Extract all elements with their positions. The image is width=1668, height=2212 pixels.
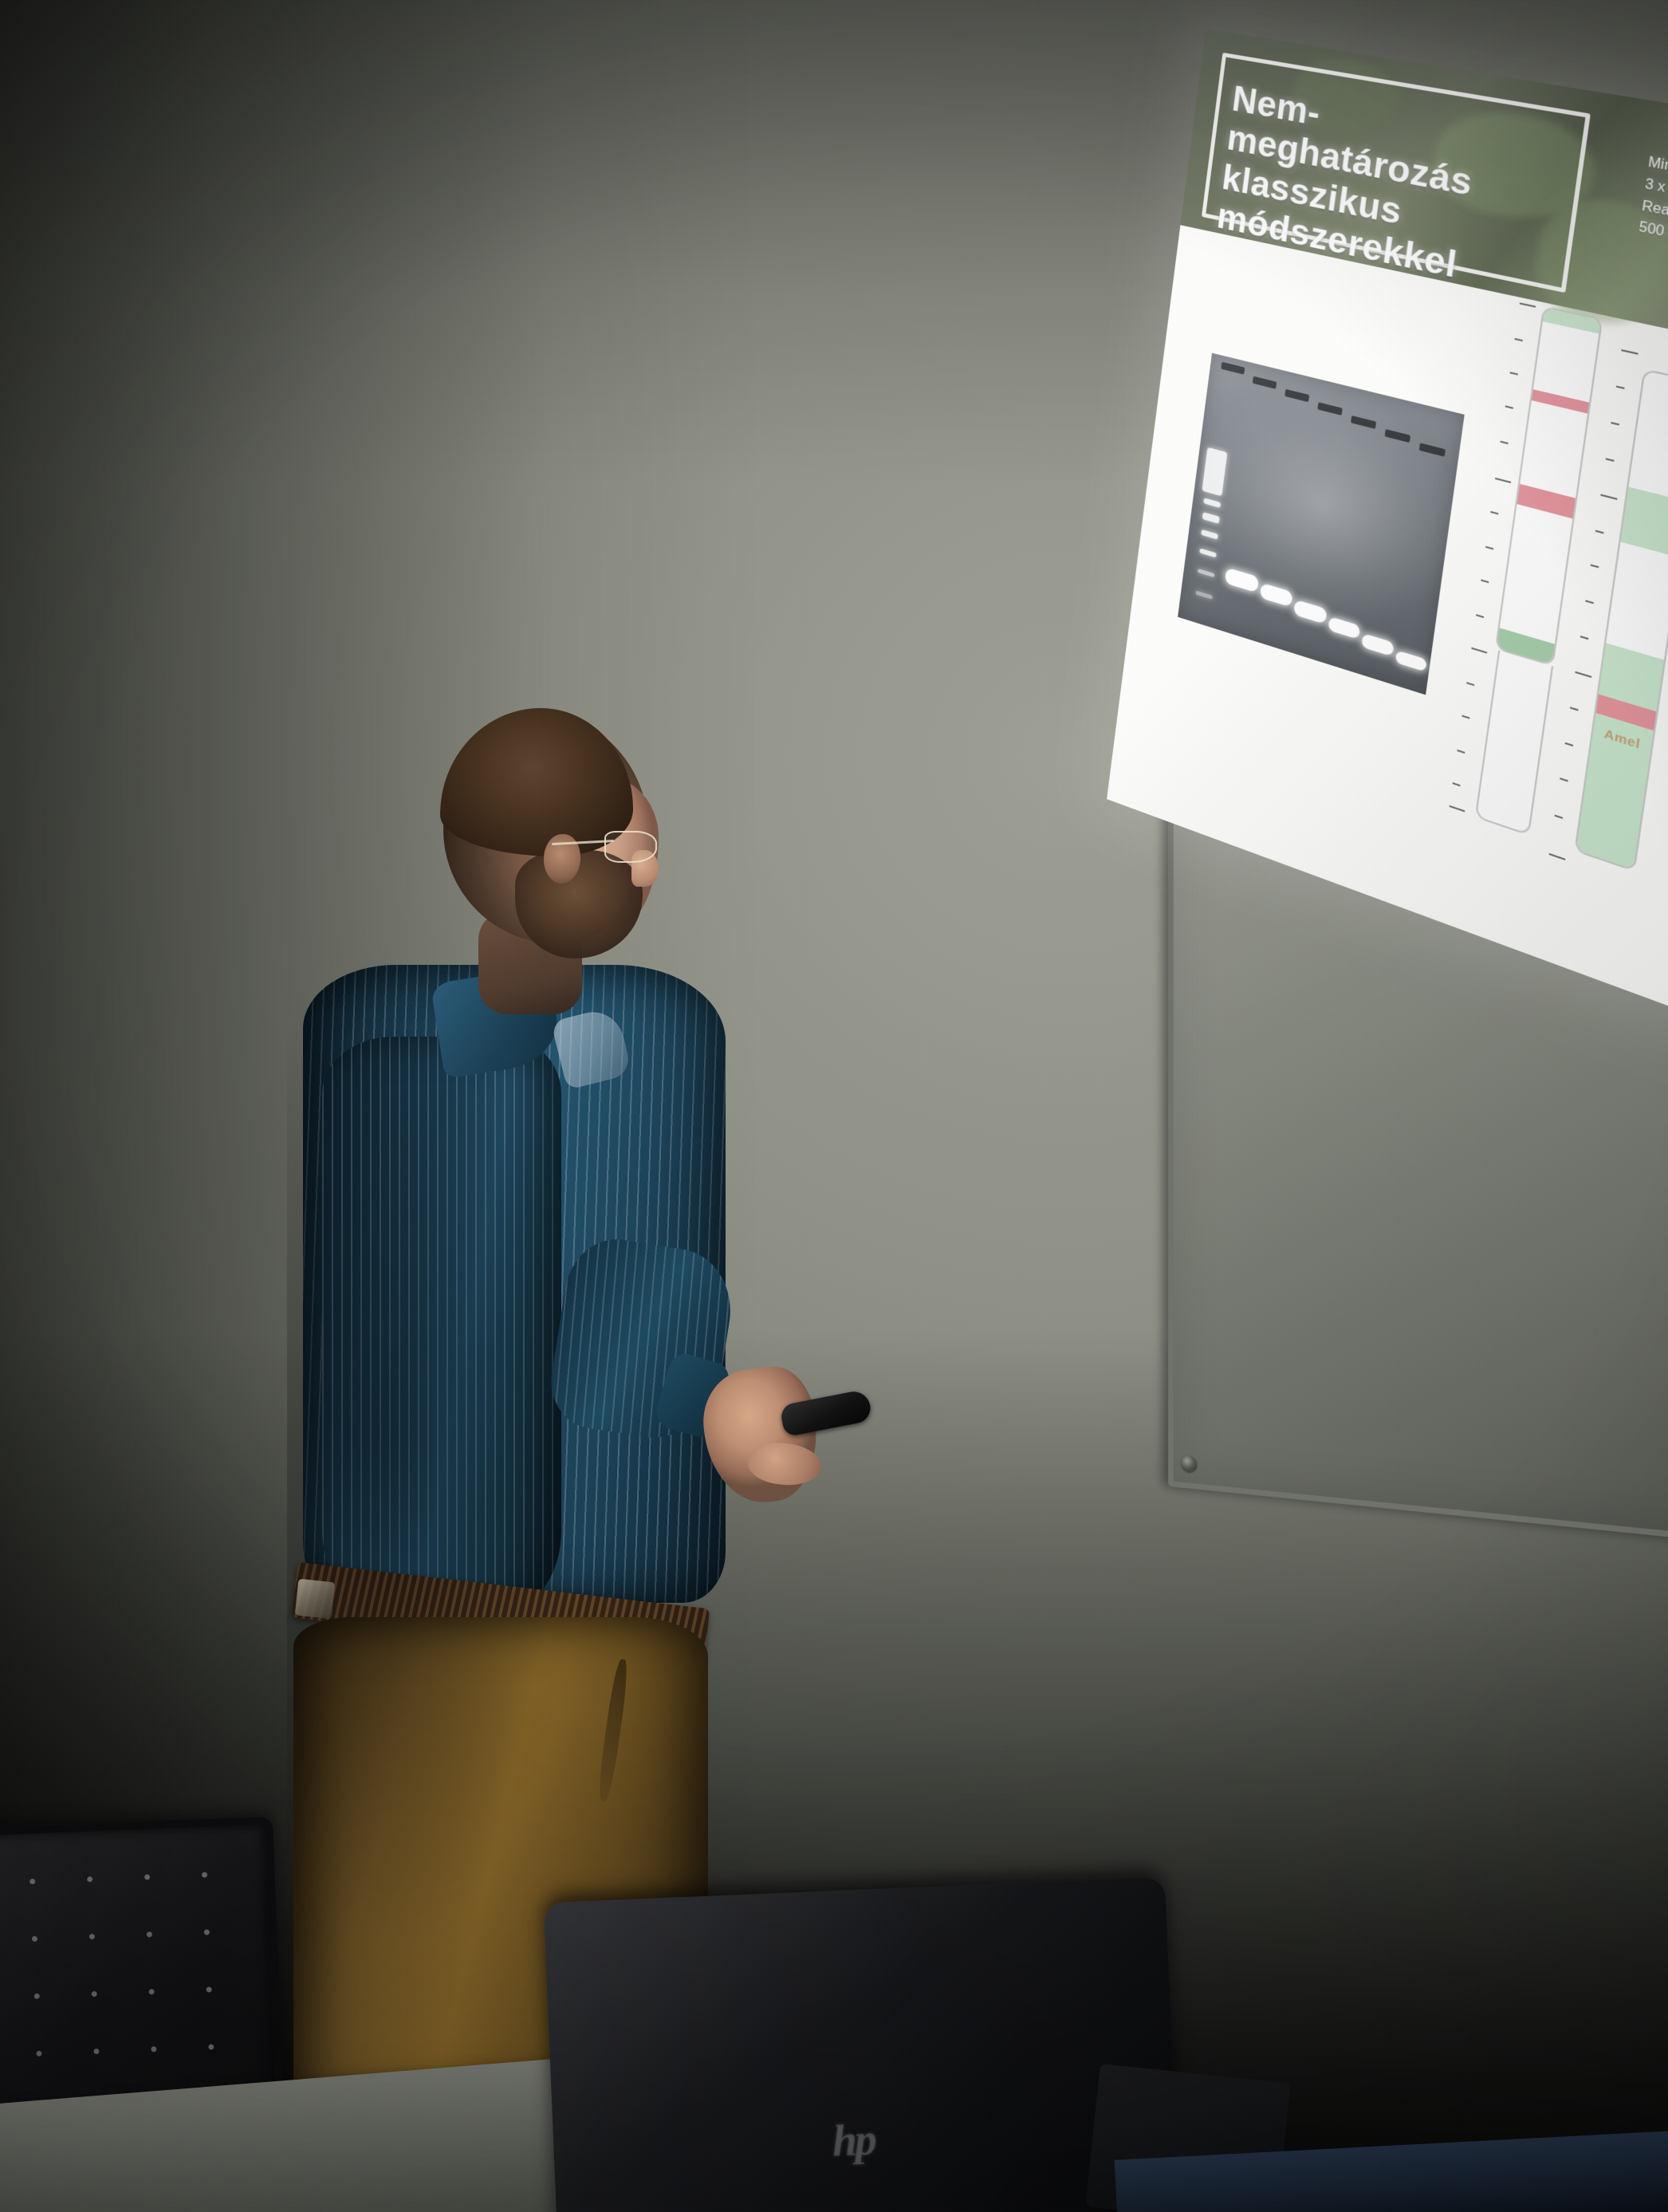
laptop-lid: hp — [544, 1877, 1179, 2212]
track-2-tick — [1600, 494, 1617, 500]
track-2-tick — [1549, 853, 1566, 860]
track-2-tick — [1616, 386, 1625, 390]
photo-stage: Nem-meghatározás klasszikus módszerekkel… — [0, 0, 1668, 2212]
track-2-tick — [1611, 422, 1619, 426]
track-1-tick — [1481, 579, 1489, 583]
track-1-tick — [1457, 750, 1465, 754]
track-1-tick — [1490, 511, 1498, 515]
track-2-tick — [1570, 707, 1579, 710]
track-2-tick — [1575, 671, 1591, 678]
track-1-body-lower — [1475, 650, 1554, 836]
track-2-tick — [1591, 564, 1599, 568]
track-1-tick — [1510, 372, 1518, 375]
track-1-tick — [1485, 546, 1493, 550]
glasses-lens — [604, 831, 657, 863]
track-1-tick — [1453, 782, 1461, 786]
track-2-tick — [1555, 815, 1563, 819]
track-2-feature-green-1 — [1621, 486, 1668, 557]
track-1-tick — [1520, 302, 1536, 307]
presenter-head — [443, 714, 657, 954]
glasses-icon — [552, 831, 657, 861]
track-2-tick — [1585, 600, 1594, 604]
track-1-tick — [1450, 805, 1465, 813]
gel-electrophoresis-figure — [1178, 353, 1465, 695]
track-2-body: Amel — [1574, 368, 1668, 872]
track-2-tick — [1560, 777, 1568, 781]
track-1-tick — [1471, 647, 1487, 654]
track-2-tick — [1595, 530, 1604, 534]
track-1-feature-red-2 — [1517, 484, 1576, 519]
track-1-tick — [1495, 478, 1511, 483]
track-1-tick — [1515, 338, 1523, 341]
track-2-tick — [1606, 458, 1615, 462]
track-1-tick — [1461, 715, 1469, 719]
track-1-tick — [1466, 682, 1474, 686]
track-1-tick — [1476, 614, 1484, 618]
track-2-tick — [1621, 349, 1638, 355]
track-1-feature-red-1 — [1532, 389, 1589, 413]
track-2-tick — [1565, 742, 1574, 746]
presenter-upper-arm — [322, 1037, 561, 1611]
track-1-tick — [1505, 405, 1513, 408]
track-2-tick — [1580, 636, 1589, 640]
track-1-tick — [1501, 441, 1509, 445]
presenter-belt-buckle — [295, 1579, 336, 1620]
